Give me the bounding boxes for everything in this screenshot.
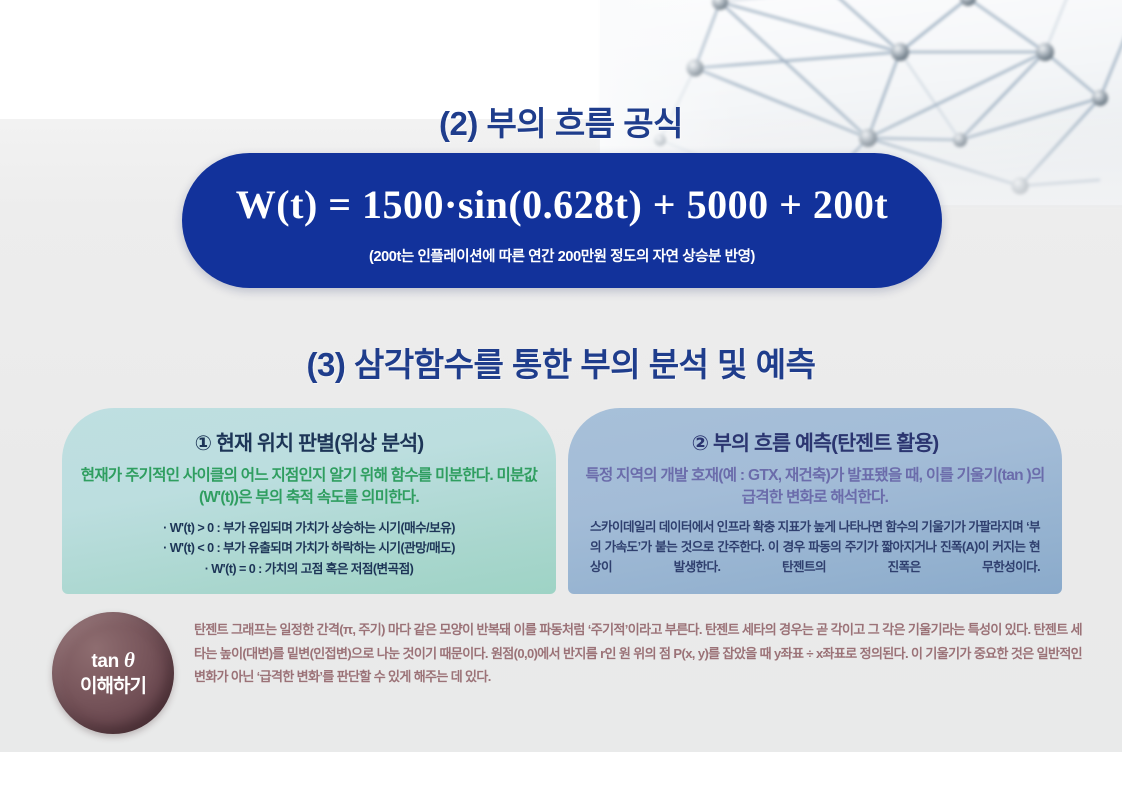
- bullet-item: W'(t) = 0 : 가치의 고점 혹은 저점(변곡점): [78, 559, 540, 579]
- bullet-item: W'(t) < 0 : 부가 유출되며 가치가 하락하는 시기(관망/매도): [78, 538, 540, 558]
- bottom-note-text: 탄젠트 그래프는 일정한 간격(π, 주기) 마다 같은 모양이 반복돼 이를 …: [194, 612, 1082, 689]
- card-phase-analysis-lead: 현재가 주기적인 사이클의 어느 지점인지 알기 위해 함수를 미분한다. 미분…: [78, 465, 540, 509]
- tan-theta-badge-line1: tan θ: [91, 648, 134, 673]
- tan-theta-badge-line2: 이해하기: [80, 676, 146, 698]
- feature-cards-row: ① 현재 위치 판별(위상 분석) 현재가 주기적인 사이클의 어느 지점인지 …: [62, 408, 1062, 594]
- theta-symbol: θ: [124, 648, 135, 672]
- card-tangent-forecast-title: ② 부의 흐름 예측(탄젠트 활용): [584, 426, 1046, 456]
- bullet-item: W'(t) > 0 : 부가 유입되며 가치가 상승하는 시기(매수/보유): [78, 518, 540, 538]
- tan-theta-badge-prefix: tan: [91, 651, 124, 672]
- card-phase-analysis-title: ① 현재 위치 판별(위상 분석): [78, 426, 540, 456]
- formula-expression: W(t) = 1500·sin(0.628t) + 5000 + 200t: [236, 181, 888, 228]
- section-2-heading: (2) 부의 흐름 공식: [0, 97, 1122, 145]
- card-tangent-forecast-body: 스카이데일리 데이터에서 인프라 확충 지표가 높게 나타나면 함수의 기울기가…: [584, 518, 1046, 578]
- card-tangent-forecast-lead: 특정 지역의 개발 호재(예 : GTX, 재건축)가 발표됐을 때, 이를 기…: [584, 465, 1046, 509]
- formula-note: (200t는 인플레이션에 따른 연간 200만원 정도의 자연 상승분 반영): [369, 245, 755, 266]
- section-3-heading: (3) 삼각함수를 통한 부의 분석 및 예측: [0, 338, 1122, 386]
- card-phase-analysis: ① 현재 위치 판별(위상 분석) 현재가 주기적인 사이클의 어느 지점인지 …: [62, 408, 556, 594]
- bottom-note: tan θ 이해하기 탄젠트 그래프는 일정한 간격(π, 주기) 마다 같은 …: [52, 612, 1082, 732]
- background-bottom-white: [0, 752, 1122, 793]
- tan-theta-badge: tan θ 이해하기: [52, 612, 174, 734]
- card-tangent-forecast: ② 부의 흐름 예측(탄젠트 활용) 특정 지역의 개발 호재(예 : GTX,…: [568, 408, 1062, 594]
- card-phase-analysis-bullets: W'(t) > 0 : 부가 유입되며 가치가 상승하는 시기(매수/보유) W…: [78, 518, 540, 579]
- infographic-page: (2) 부의 흐름 공식 W(t) = 1500·sin(0.628t) + 5…: [0, 0, 1122, 793]
- formula-card: W(t) = 1500·sin(0.628t) + 5000 + 200t (2…: [182, 153, 942, 288]
